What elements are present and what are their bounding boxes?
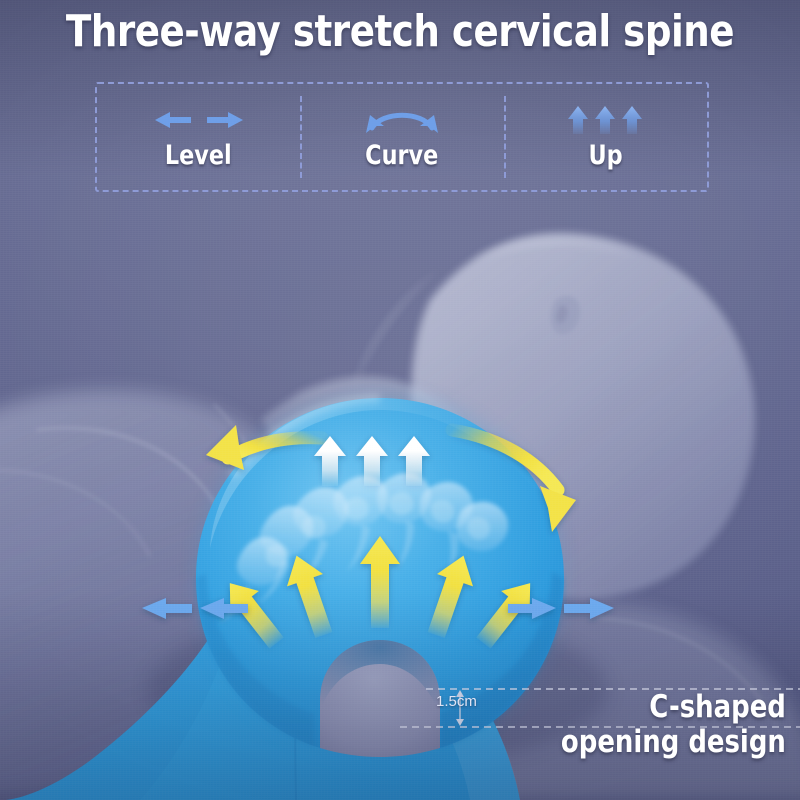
caption-c-shaped-opening: C-shaped opening design xyxy=(561,690,786,760)
page-title: Three-way stretch cervical spine xyxy=(24,6,776,58)
feature-item-curve: Curve xyxy=(300,84,503,190)
feature-item-level: Level xyxy=(97,84,300,190)
feature-label-level: Level xyxy=(165,141,232,171)
measurement-label: 1.5cm xyxy=(436,693,477,710)
left-right-arrows-icon xyxy=(151,103,247,137)
caption-line-1: C-shaped xyxy=(561,690,786,725)
caption-line-2: opening design xyxy=(561,725,786,760)
feature-label-curve: Curve xyxy=(365,141,438,171)
feature-panel: Level Curve xyxy=(95,82,709,192)
triple-up-arrows-icon xyxy=(560,103,650,137)
curved-double-arrow-icon xyxy=(354,103,450,137)
feature-item-up: Up xyxy=(504,84,707,190)
product-marketing-image: Three-way stretch cervical spine Level xyxy=(0,0,800,800)
feature-label-up: Up xyxy=(588,141,622,171)
